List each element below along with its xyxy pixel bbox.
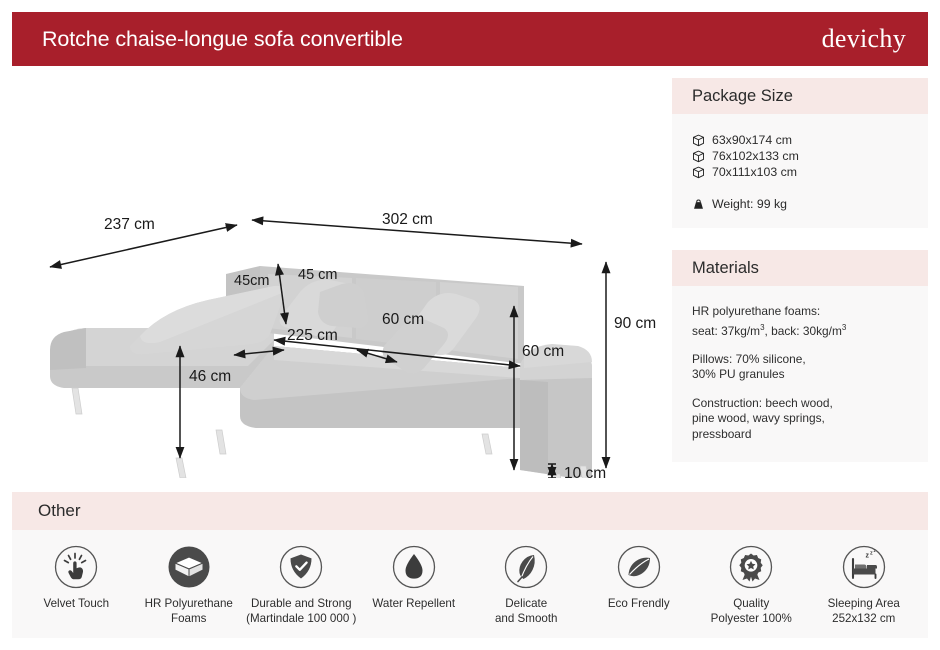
feature-label: Delicate and Smooth [495, 597, 558, 626]
dim-chaise-height: 46 cm [189, 368, 231, 385]
box-icon [692, 134, 705, 147]
other-header: Other [12, 492, 928, 530]
dim-total-height: 90 cm [614, 315, 656, 332]
box-icon [692, 166, 705, 179]
materials-foams-line2: seat: 37kg/m3, back: 30kg/m3 [692, 320, 908, 339]
package-size-heading: Package Size [692, 87, 793, 106]
page-title: Rotche chaise-longue sofa convertible [42, 27, 403, 52]
feature-velvet-touch: Velvet Touch [20, 544, 133, 612]
feature-quality-polyester: Quality Polyester 100% [695, 544, 808, 626]
materials-pillows-line2: 30% PU granules [692, 367, 908, 383]
feature-delicate-and-smooth: Delicate and Smooth [470, 544, 583, 626]
weight-icon [692, 198, 705, 211]
feature-label: Eco Frendly [608, 597, 670, 612]
leaf-icon [616, 544, 662, 590]
bed-icon: z z z [841, 544, 887, 590]
dim-seat-depth-left: 45cm [234, 273, 269, 289]
materials-header: Materials [672, 250, 928, 286]
materials-foams-line1: HR polyurethane foams: [692, 304, 908, 320]
materials-pillows: Pillows: 70% silicone, 30% PU granules [692, 352, 908, 383]
materials-heading: Materials [692, 259, 759, 278]
package-weight-row: Weight: 99 kg [692, 197, 908, 211]
shield-check-icon [278, 544, 324, 590]
feature-water-repellent: Water Repellent [358, 544, 471, 612]
other-heading: Other [38, 501, 81, 521]
package-weight-value: Weight: 99 kg [712, 197, 787, 211]
package-size-panel: Package Size 63x90x174 cm 76x102x133 cm … [672, 78, 928, 228]
header-bar: Rotche chaise-longue sofa convertible de… [12, 12, 928, 66]
feature-durable-and-strong: Durable and Strong (Martindale 100 000 ) [245, 544, 358, 626]
dim-width-total: 302 cm [382, 211, 433, 228]
svg-text:z: z [865, 553, 869, 560]
dim-seat-width: 225 cm [287, 327, 338, 344]
package-size-value: 70x111x103 cm [712, 164, 797, 180]
feather-icon [503, 544, 549, 590]
feature-list: Velvet Touch HR Polyurethane Foams Durab… [12, 530, 928, 626]
materials-construction-line3: pressboard [692, 427, 908, 443]
box-icon [692, 150, 705, 163]
materials-construction-line2: pine wood, wavy springs, [692, 411, 908, 427]
quality-badge-icon [728, 544, 774, 590]
package-size-row: 70x111x103 cm [692, 164, 908, 180]
package-size-value: 63x90x174 cm [712, 132, 792, 148]
package-size-row: 76x102x133 cm [692, 148, 908, 164]
materials-construction-line1: Construction: beech wood, [692, 396, 908, 412]
feature-label: Sleeping Area 252x132 cm [828, 597, 900, 626]
feature-label: Quality Polyester 100% [711, 597, 792, 626]
feature-label: Durable and Strong (Martindale 100 000 ) [246, 597, 356, 626]
package-size-header: Package Size [672, 78, 928, 114]
dim-arm-height: 60 cm [522, 343, 564, 360]
package-size-row: 63x90x174 cm [692, 132, 908, 148]
other-features-panel: Other Velvet Touch [12, 492, 928, 638]
materials-pillows-line1: Pillows: 70% silicone, [692, 352, 908, 368]
materials-panel: Materials HR polyurethane foams: seat: 3… [672, 250, 928, 462]
materials-body: HR polyurethane foams: seat: 37kg/m3, ba… [672, 286, 928, 442]
feature-label: Velvet Touch [43, 597, 109, 612]
materials-foams: HR polyurethane foams: seat: 37kg/m3, ba… [692, 304, 908, 339]
feature-label: HR Polyurethane Foams [145, 597, 233, 626]
feature-hr-polyurethane-foams: HR Polyurethane Foams [133, 544, 246, 626]
brand-logo: devichy [822, 24, 906, 54]
velvet-touch-icon [53, 544, 99, 590]
sofa-dimension-diagram: 237 cm 302 cm 45cm 45 cm 225 cm 60 cm 46… [12, 78, 660, 478]
feature-sleeping-area: z z z Sleeping Area 252x132 cm [808, 544, 921, 626]
package-size-body: 63x90x174 cm 76x102x133 cm 70x111x103 cm… [672, 114, 928, 211]
dim-leg-height: 10 cm [564, 465, 606, 478]
water-drop-icon [391, 544, 437, 590]
feature-label: Water Repellent [372, 597, 455, 612]
dim-depth-left: 237 cm [104, 216, 155, 233]
foam-icon [166, 544, 212, 590]
dim-seat-depth-right: 45 cm [298, 267, 338, 283]
materials-construction: Construction: beech wood, pine wood, wav… [692, 396, 908, 443]
package-size-value: 76x102x133 cm [712, 148, 799, 164]
dim-seat-depth-mid: 60 cm [382, 311, 424, 328]
feature-eco-frendly: Eco Frendly [583, 544, 696, 612]
sofa-illustration [50, 266, 592, 478]
diagram-svg: 237 cm 302 cm 45cm 45 cm 225 cm 60 cm 46… [12, 78, 660, 478]
